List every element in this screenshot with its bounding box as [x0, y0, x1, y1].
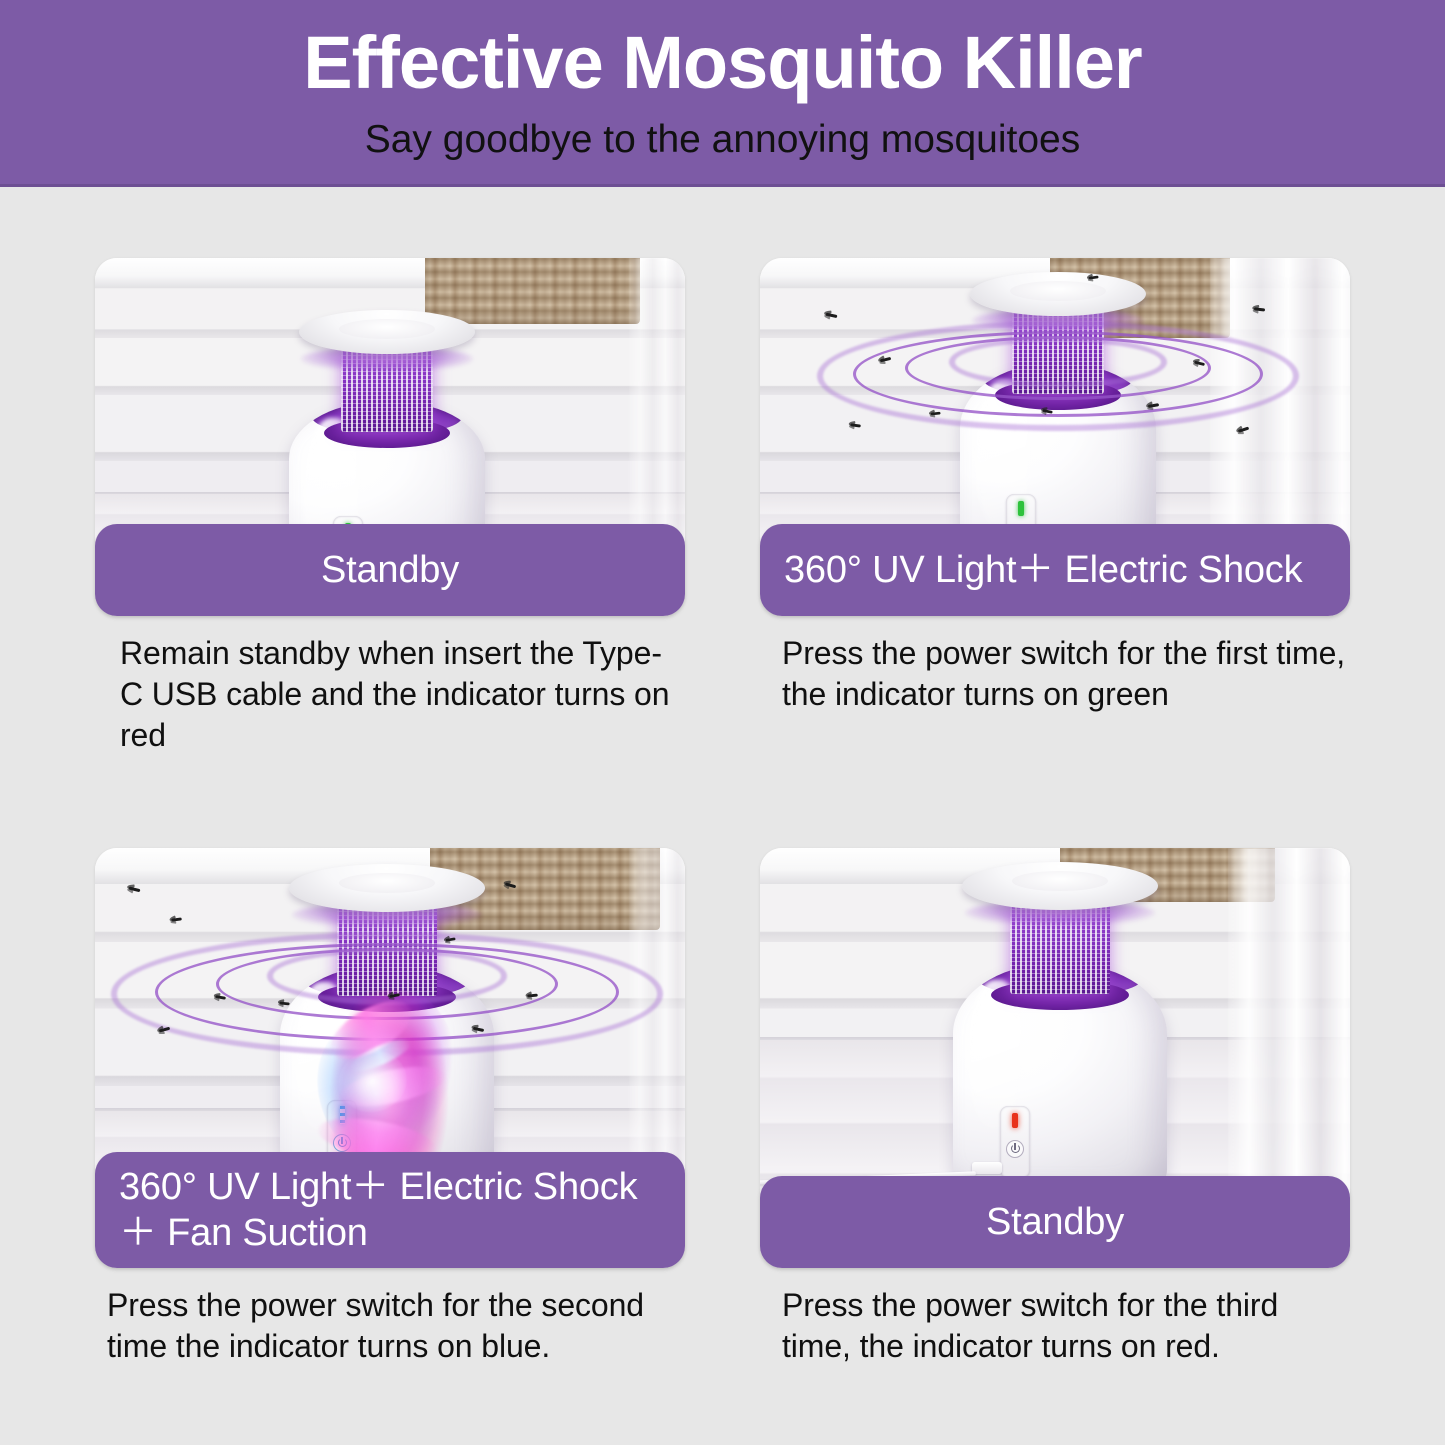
panel-caption-text-3: 360° UV Light＋ Electric Shock＋ Fan Sucti… [95, 1164, 685, 1256]
device-lid [299, 310, 475, 354]
device-lid [289, 864, 485, 912]
page-title: Effective Mosquito Killer [0, 22, 1445, 104]
page-header: Effective Mosquito Killer Say goodbye to… [0, 0, 1445, 186]
mosquito-icon [277, 1000, 292, 1008]
panel-caption-3: 360° UV Light＋ Electric Shock＋ Fan Sucti… [95, 1152, 685, 1268]
panel-description-4: Press the power switch for the third tim… [760, 1285, 1350, 1367]
power-button-3[interactable] [333, 1134, 351, 1152]
device-lid-inner [1012, 871, 1108, 891]
status-indicator-led-4 [1012, 1113, 1018, 1128]
status-indicator-led-2 [1018, 501, 1024, 516]
panel-caption-text-1: Standby [307, 547, 473, 593]
feature-panel-uv-shock-fan: 360° UV Light＋ Electric Shock＋ Fan Sucti… [95, 848, 685, 1367]
power-button-4[interactable] [1006, 1140, 1024, 1158]
device-lid [962, 862, 1158, 910]
page-subtitle: Say goodbye to the annoying mosquitoes [0, 117, 1445, 163]
panel-caption-text-2: 360° UV Light＋ Electric Shock [760, 547, 1316, 593]
panel-description-1: Remain standby when insert the Type-C US… [95, 633, 685, 756]
device-lid-inner [339, 319, 435, 339]
panel-caption-4: Standby [760, 1176, 1350, 1268]
usb-plug-4 [972, 1162, 1002, 1174]
control-panel-4[interactable] [1000, 1106, 1030, 1178]
feature-panel-standby-initial: Standby Remain standby when insert the T… [95, 258, 685, 756]
feature-panel-uv-electric-shock: 360° UV Light＋ Electric Shock Press the … [760, 258, 1350, 715]
feature-grid: Standby Remain standby when insert the T… [0, 186, 1445, 1445]
panel-description-3: Press the power switch for the second ti… [95, 1285, 685, 1367]
panel-caption-text-4: Standby [972, 1199, 1138, 1245]
panel-caption-2: 360° UV Light＋ Electric Shock [760, 524, 1350, 616]
device-lid-inner [339, 873, 435, 893]
device-lid [970, 272, 1146, 316]
feature-panel-standby-final: Standby Press the power switch for the t… [760, 848, 1350, 1367]
panel-caption-1: Standby [95, 524, 685, 616]
status-indicator-led-3 [340, 1106, 345, 1124]
panel-description-2: Press the power switch for the first tim… [760, 633, 1350, 715]
device-lid-inner [1010, 281, 1106, 301]
